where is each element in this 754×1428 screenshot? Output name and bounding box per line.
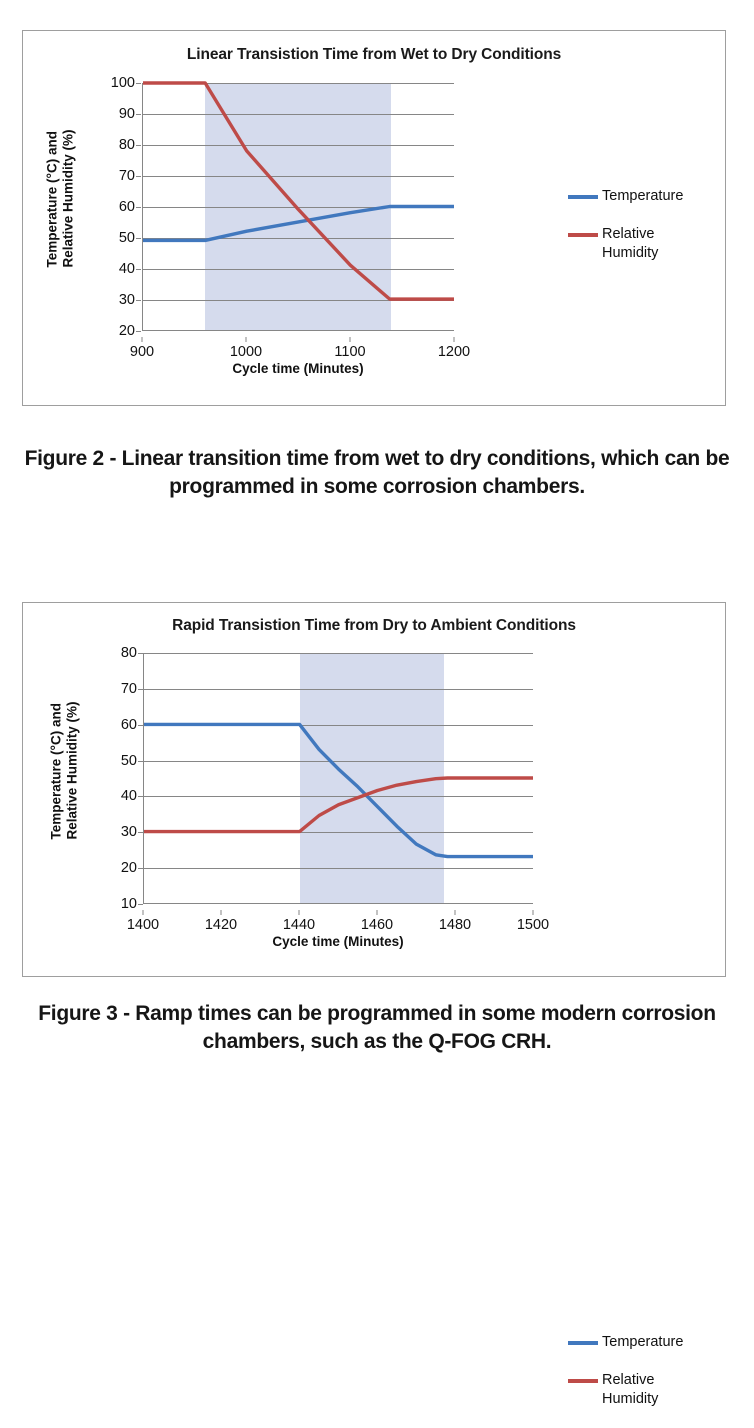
chart-1-legend-label-humidity-line2: Humidity: [602, 245, 658, 261]
chart-1-legend-item-temperature: Temperature: [568, 187, 683, 207]
y-tick-label: 20: [119, 323, 135, 339]
humidity-line-swatch-icon: [568, 233, 598, 237]
chart-1-inner: Linear Transistion Time from Wet to Dry …: [23, 31, 725, 405]
chart-2-y-axis-label-line1: Temperature (°C) and: [49, 703, 64, 839]
chart-1-y-axis-label: Temperature (°C) and Relative Humidity (…: [45, 147, 78, 267]
y-tick-label: 30: [121, 824, 137, 840]
x-tick-label: 1200: [438, 344, 470, 360]
x-tick-label: 1100: [334, 344, 365, 360]
y-tick-label: 90: [119, 106, 135, 122]
chart-1-y-axis-ticks: 2030405060708090100: [83, 83, 135, 331]
y-tick-label: 20: [121, 860, 137, 876]
x-tick-label: 1440: [283, 917, 315, 933]
y-tick-label: 40: [119, 261, 135, 277]
y-tick-mark: [136, 207, 141, 208]
y-tick-mark: [136, 238, 141, 239]
y-tick-mark: [136, 331, 141, 332]
x-tick-mark: [143, 910, 144, 915]
y-tick-mark: [136, 83, 141, 84]
x-tick-mark: [455, 910, 456, 915]
temperature-line-swatch-icon: [568, 195, 598, 199]
chart-1-legend-label-humidity: Relative Humidity: [602, 225, 658, 264]
x-tick-label: 1000: [230, 344, 262, 360]
chart-2-legend-item-temperature: Temperature: [568, 1333, 683, 1353]
x-tick-mark: [350, 337, 351, 342]
x-tick-mark: [377, 910, 378, 915]
x-tick-mark: [142, 337, 143, 342]
x-tick-mark: [221, 910, 222, 915]
chart-2-title: Rapid Transistion Time from Dry to Ambie…: [23, 617, 725, 635]
y-tick-mark: [136, 176, 141, 177]
x-tick-mark: [246, 337, 247, 342]
y-tick-label: 80: [121, 645, 137, 661]
y-tick-mark: [136, 269, 141, 270]
y-tick-label: 50: [119, 230, 135, 246]
figure-3-caption: Figure 3 - Ramp times can be programmed …: [22, 1000, 732, 1055]
chart-2-series-lines: [144, 653, 533, 903]
x-tick-label: 900: [130, 344, 154, 360]
chart-1-series-lines: [143, 83, 454, 330]
chart-2-legend: Temperature Relative Humidity: [568, 1333, 683, 1428]
chart-2-legend-label-humidity-line2: Humidity: [602, 1391, 658, 1407]
chart-2-plot-area: [143, 653, 533, 904]
chart-2-legend-label-humidity: Relative Humidity: [602, 1371, 658, 1410]
series-line-relative-humidity: [143, 83, 454, 299]
x-tick-label: 1460: [361, 917, 393, 933]
temperature-line-swatch-icon: [568, 1341, 598, 1345]
y-tick-mark: [136, 145, 141, 146]
chart-2-legend-label-humidity-line1: Relative: [602, 1372, 654, 1388]
chart-1-x-axis-label: Cycle time (Minutes): [142, 361, 454, 376]
chart-2-y-axis-label-line2: Relative Humidity (%): [65, 701, 80, 839]
figure-page: Linear Transistion Time from Wet to Dry …: [0, 0, 754, 1100]
y-tick-label: 60: [119, 199, 135, 215]
y-tick-label: 70: [119, 168, 135, 184]
x-tick-mark: [533, 910, 534, 915]
chart-2-inner: Rapid Transistion Time from Dry to Ambie…: [23, 603, 725, 976]
x-tick-mark: [299, 910, 300, 915]
x-tick-label: 1500: [517, 917, 549, 933]
x-tick-label: 1480: [439, 917, 471, 933]
chart-2-y-axis-label: Temperature (°C) and Relative Humidity (…: [49, 719, 82, 839]
chart-2-frame: Rapid Transistion Time from Dry to Ambie…: [22, 602, 726, 977]
chart-1-title: Linear Transistion Time from Wet to Dry …: [23, 46, 725, 64]
chart-2-legend-label-temperature: Temperature: [602, 1333, 683, 1353]
chart-1-y-axis-label-line1: Temperature (°C) and: [45, 131, 60, 267]
y-tick-label: 60: [121, 717, 137, 733]
chart-1-legend-label-humidity-line1: Relative: [602, 226, 654, 242]
chart-2-x-axis-label: Cycle time (Minutes): [143, 934, 533, 949]
y-tick-label: 30: [119, 292, 135, 308]
y-tick-mark: [136, 300, 141, 301]
y-tick-mark: [136, 114, 141, 115]
x-tick-mark: [454, 337, 455, 342]
chart-1-frame: Linear Transistion Time from Wet to Dry …: [22, 30, 726, 406]
figure-2-caption: Figure 2 - Linear transition time from w…: [22, 445, 732, 500]
series-line-temperature: [144, 724, 533, 856]
y-tick-label: 100: [111, 75, 135, 91]
y-tick-label: 80: [119, 137, 135, 153]
y-tick-label: 50: [121, 753, 137, 769]
y-tick-label: 70: [121, 681, 137, 697]
chart-1-legend-item-humidity: Relative Humidity: [568, 225, 683, 264]
chart-1-legend-label-temperature: Temperature: [602, 187, 683, 207]
y-tick-mark: [138, 904, 143, 905]
chart-1-plot-area: [142, 83, 454, 331]
chart-1-legend: Temperature Relative Humidity: [568, 187, 683, 282]
y-tick-label: 10: [121, 896, 137, 912]
chart-2-y-axis-ticks: 1020304050607080: [85, 653, 137, 904]
x-tick-label: 1420: [205, 917, 237, 933]
y-tick-label: 40: [121, 788, 137, 804]
chart-2-legend-item-humidity: Relative Humidity: [568, 1371, 683, 1410]
series-line-relative-humidity: [144, 778, 533, 832]
humidity-line-swatch-icon: [568, 1379, 598, 1383]
x-tick-label: 1400: [127, 917, 159, 933]
chart-1-y-axis-label-line2: Relative Humidity (%): [61, 129, 76, 267]
